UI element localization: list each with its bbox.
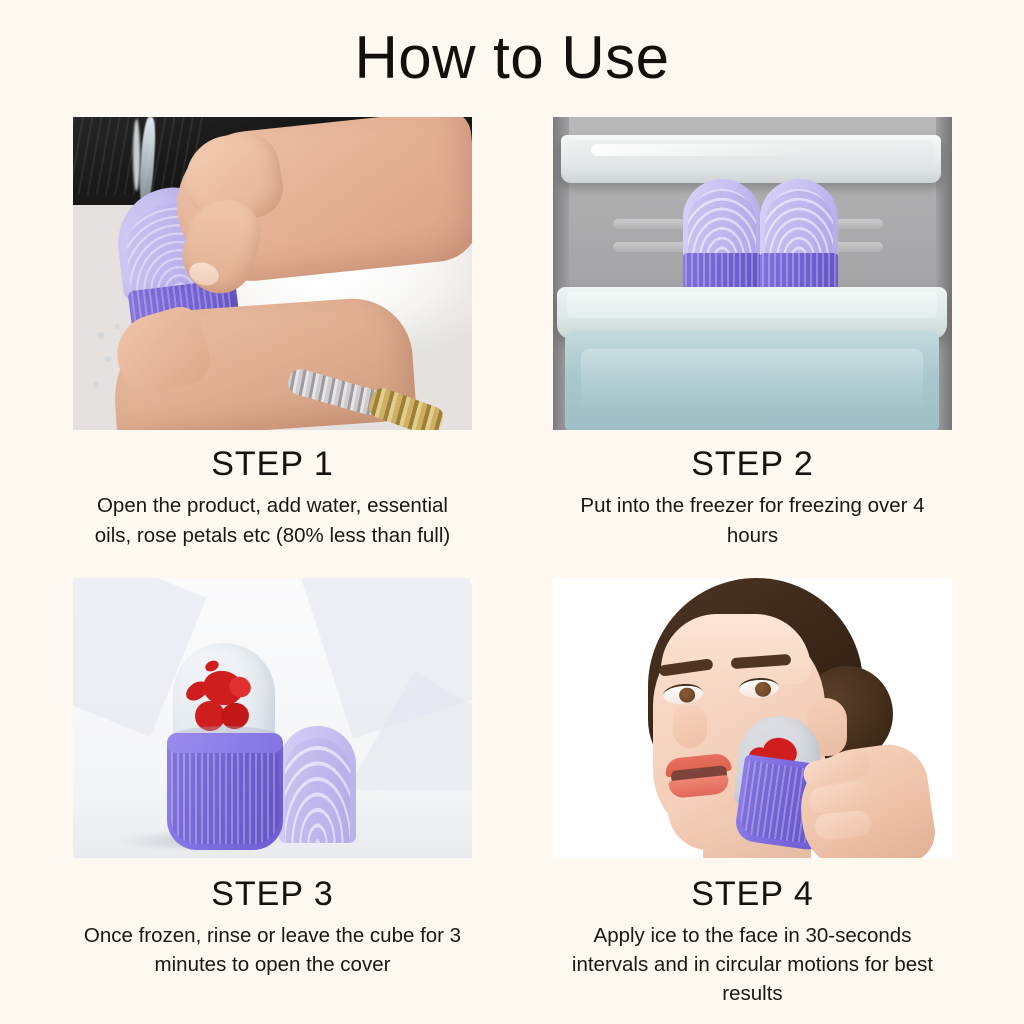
steps-grid: STEP 1 Open the product, add water, esse…	[73, 117, 953, 1008]
iris	[678, 687, 695, 703]
fridge-crisper-drawer	[565, 331, 939, 430]
step-3-description: Once frozen, rinse or leave the cube for…	[77, 921, 469, 979]
step-card-3: STEP 3 Once frozen, rinse or leave the c…	[73, 578, 472, 1009]
roller-cover	[760, 179, 838, 259]
step-card-1: STEP 1 Open the product, add water, esse…	[73, 117, 472, 550]
step-3-image-open-roller	[73, 578, 472, 858]
roller-rim	[167, 733, 283, 753]
step-2-image-freezer	[553, 117, 952, 430]
step-1-label: STEP 1	[211, 446, 334, 483]
roller-base-cup	[167, 736, 283, 850]
roller-cover	[683, 179, 761, 259]
page-title: How to Use	[0, 24, 1024, 91]
step-card-4: STEP 4 Apply ice to the face in 30-secon…	[553, 578, 952, 1009]
steps-row-1: STEP 1 Open the product, add water, esse…	[73, 117, 953, 550]
step-4-label: STEP 4	[691, 876, 814, 913]
fridge-upper-glass-shelf	[561, 135, 941, 183]
roller-cover-detached	[279, 726, 356, 843]
step-2-description: Put into the freezer for freezing over 4…	[557, 491, 949, 549]
step-3-label: STEP 3	[211, 876, 334, 913]
water-stream-secondary-icon	[133, 119, 140, 191]
step-2-label: STEP 2	[691, 446, 814, 483]
step-4-image-applying-to-face	[553, 578, 952, 858]
iris	[755, 681, 772, 697]
model-nose	[673, 706, 707, 748]
step-1-description: Open the product, add water, essential o…	[77, 491, 469, 549]
step-1-image-washing-under-tap	[73, 117, 472, 430]
step-card-2: STEP 2 Put into the freezer for freezing…	[553, 117, 952, 550]
how-to-use-page: How to Use	[0, 0, 1024, 1024]
steps-row-2: STEP 3 Once frozen, rinse or leave the c…	[73, 578, 953, 1009]
step-4-description: Apply ice to the face in 30-seconds inte…	[557, 921, 949, 1008]
